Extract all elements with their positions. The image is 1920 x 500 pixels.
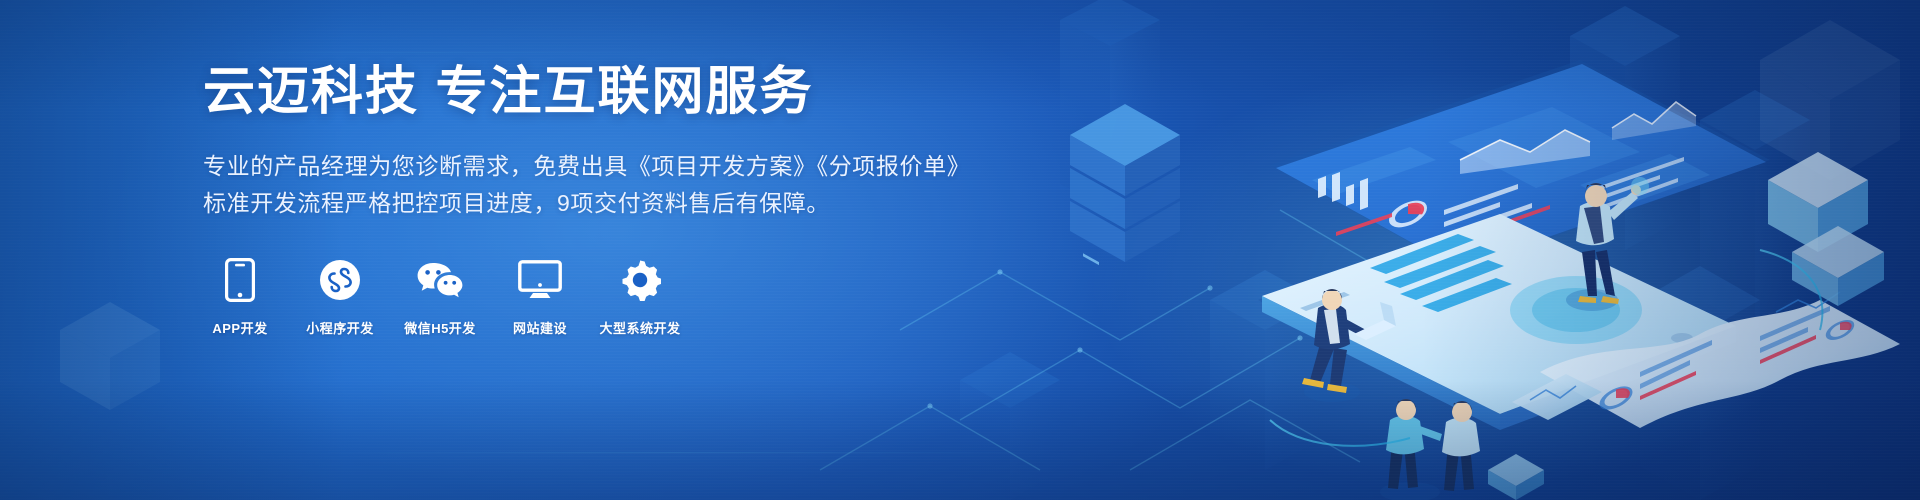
- service-item-large-system[interactable]: 大型系统开发: [603, 257, 677, 337]
- service-item-wechat-h5[interactable]: 微信H5开发: [403, 257, 477, 337]
- hero-banner: 云迈科技 专注互联网服务 专业的产品经理为您诊断需求，免费出具《项目开发方案》《…: [0, 0, 1920, 500]
- subtitle-line-1: 专业的产品经理为您诊断需求，免费出具《项目开发方案》《分项报价单》: [203, 148, 963, 185]
- service-list: APP开发 小程序开发: [203, 257, 963, 337]
- mini-program-icon: [319, 257, 361, 303]
- service-label-miniprogram: 小程序开发: [306, 318, 374, 337]
- service-label-app: APP开发: [212, 318, 267, 337]
- service-label-wechat-h5: 微信H5开发: [404, 318, 476, 337]
- service-item-miniprogram[interactable]: 小程序开发: [303, 257, 377, 337]
- banner-headline: 云迈科技 专注互联网服务: [203, 66, 963, 118]
- wechat-icon: [416, 257, 464, 303]
- hero-illustration: [940, 0, 1920, 500]
- banner-content: 云迈科技 专注互联网服务 专业的产品经理为您诊断需求，免费出具《项目开发方案》《…: [203, 66, 963, 337]
- banner-subtitle: 专业的产品经理为您诊断需求，免费出具《项目开发方案》《分项报价单》 标准开发流程…: [203, 148, 963, 223]
- gear-icon: [619, 257, 661, 303]
- monitor-icon: [518, 257, 562, 303]
- mobile-phone-icon: [225, 257, 255, 303]
- service-item-app[interactable]: APP开发: [203, 257, 277, 337]
- subtitle-line-2: 标准开发流程严格把控项目进度，9项交付资料售后有保障。: [203, 185, 963, 222]
- service-item-website[interactable]: 网站建设: [503, 257, 577, 337]
- service-label-large-system: 大型系统开发: [600, 318, 681, 337]
- service-label-website: 网站建设: [513, 318, 567, 337]
